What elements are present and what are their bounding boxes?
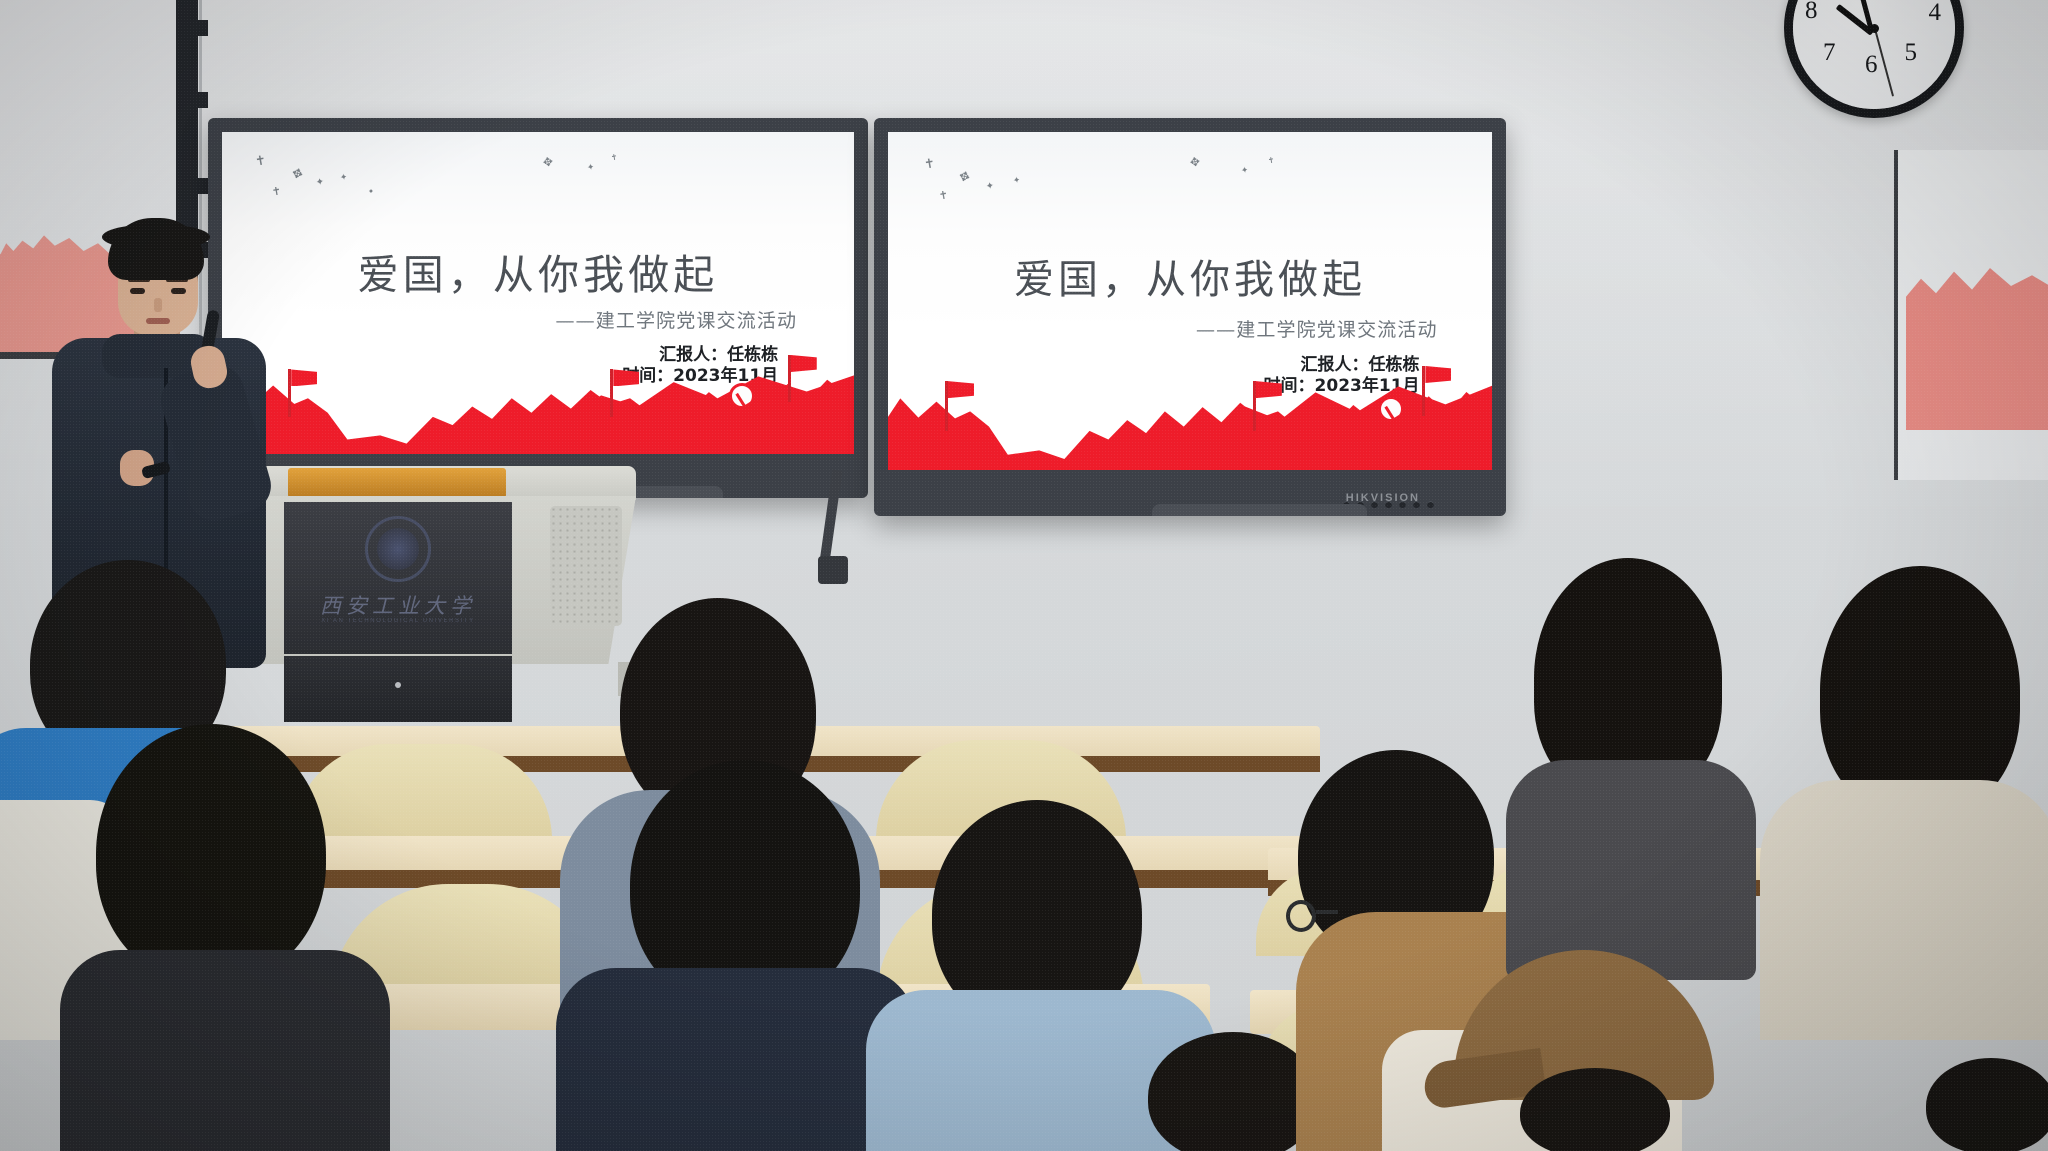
university-seal-icon — [365, 516, 431, 582]
presentation-slide-right: ✝ ✥ ✦ ✝ ✦ ✥ ✦ ✝ 爱国，从你我做起 ——建工学院党课交流活动 汇报… — [888, 132, 1492, 470]
audience-head-long-hair — [1820, 566, 2020, 816]
birds-graphic: ✝ ✥ ✦ ✝ ✦ ✥ ✦ ✝ — [912, 152, 1299, 226]
presenter-eye — [171, 288, 186, 294]
presenter-eye — [130, 288, 145, 294]
display-left-screen[interactable]: ✝ ✥ ✦ ✝ ✦ ● ✥ ✦ ✝ 爱国，从你我做起 ——建工学院党课交流活动 … — [222, 132, 854, 454]
university-name-en: XI'AN TECHNOLOGICAL UNIVERSITY — [284, 618, 512, 624]
eyeglasses-bridge-icon — [1316, 910, 1338, 914]
display-button[interactable] — [1385, 501, 1392, 508]
university-name-cn: 西安工业大学 — [284, 590, 512, 620]
emblem-icon — [729, 383, 755, 409]
display-power-button[interactable] — [1427, 501, 1434, 508]
birds-graphic: ✝ ✥ ✦ ✝ ✦ ● ✥ ✦ ✝ — [247, 151, 651, 222]
clock-numeral-7: 7 — [1823, 39, 1836, 67]
audience-head — [96, 724, 326, 984]
audience-head-under-cap — [1520, 1068, 1670, 1151]
flag-icon — [288, 369, 291, 416]
display-button[interactable] — [1371, 501, 1378, 508]
display-right-bottom-notch — [1152, 504, 1367, 516]
audience-body-gray — [1506, 760, 1756, 980]
clock-numeral-4: 4 — [1929, 0, 1942, 27]
red-crowd-graphic — [888, 364, 1492, 470]
display-button[interactable] — [1399, 501, 1406, 508]
audience-body-navy — [556, 968, 916, 1151]
audience-head — [1926, 1058, 2048, 1151]
clock-center-pin — [1870, 24, 1879, 33]
clock-numeral-5: 5 — [1905, 39, 1918, 67]
display-button[interactable] — [1413, 501, 1420, 508]
display-panel-left[interactable]: ✝ ✥ ✦ ✝ ✦ ● ✥ ✦ ✝ 爱国，从你我做起 ——建工学院党课交流活动 … — [208, 118, 868, 498]
slide-title: 爱国，从你我做起 — [222, 241, 854, 301]
clock-numeral-6: 6 — [1865, 51, 1878, 79]
display-right-screen[interactable]: ✝ ✥ ✦ ✝ ✦ ✥ ✦ ✝ 爱国，从你我做起 ——建工学院党课交流活动 汇报… — [888, 132, 1492, 470]
display-panel-right[interactable]: ✝ ✥ ✦ ✝ ✦ ✥ ✦ ✝ 爱国，从你我做起 ——建工学院党课交流活动 汇报… — [874, 118, 1506, 516]
podium-base-panel — [284, 656, 512, 722]
camera-icon — [818, 556, 848, 584]
podium-wood-trim — [288, 468, 506, 498]
audience-body-light — [1760, 780, 2048, 1040]
podium-indicator-dot — [395, 682, 401, 688]
presenter-hair — [108, 218, 204, 280]
flag-icon — [945, 381, 948, 431]
slide-subtitle: ——建工学院党课交流活动 — [1196, 315, 1438, 342]
presenter-mouth — [146, 318, 170, 324]
eyeglasses-icon — [1286, 900, 1316, 932]
flag-icon — [1422, 366, 1425, 416]
flag-icon — [610, 369, 613, 416]
red-crowd-graphic — [222, 353, 854, 454]
audience-body-dark — [60, 950, 390, 1151]
wall-mount-rail-notch — [196, 178, 208, 194]
presenter-nose — [154, 298, 162, 312]
podium-speaker-right — [550, 506, 622, 626]
slide-title: 爱国，从你我做起 — [888, 247, 1492, 305]
emblem-icon — [1378, 396, 1404, 422]
slide-subtitle: ——建工学院党课交流活动 — [555, 306, 797, 333]
flag-icon — [1253, 381, 1256, 431]
podium-front-panel: 西安工业大学 XI'AN TECHNOLOGICAL UNIVERSITY — [284, 502, 512, 654]
clock-numeral-8: 8 — [1805, 0, 1818, 25]
lecture-hall-scene: 3 4 5 6 7 8 9 ✝ ✥ ✦ ✝ ✦ ● ✥ ✦ — [0, 0, 2048, 1151]
audience-head — [1148, 1032, 1318, 1151]
flag-icon — [788, 355, 791, 402]
presentation-slide-left: ✝ ✥ ✦ ✝ ✦ ● ✥ ✦ ✝ 爱国，从你我做起 ——建工学院党课交流活动 … — [222, 132, 854, 454]
